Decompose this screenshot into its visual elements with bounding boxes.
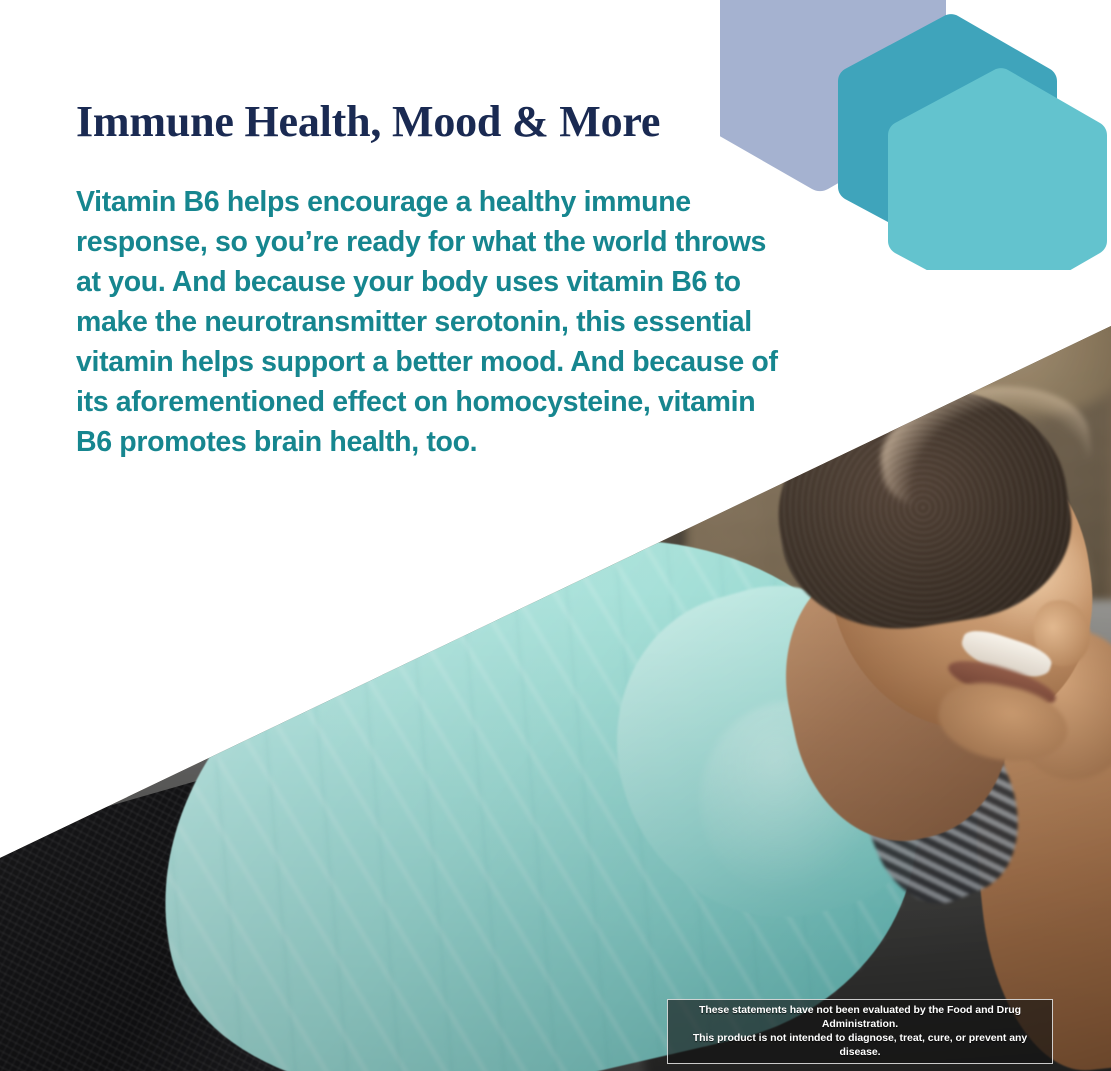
hexagon-teal	[870, 50, 1111, 270]
fda-disclaimer: These statements have not been evaluated…	[667, 999, 1053, 1064]
body-paragraph: Vitamin B6 helps encourage a healthy imm…	[76, 182, 796, 462]
fda-disclaimer-line-1: These statements have not been evaluated…	[674, 1003, 1046, 1031]
background-barbell	[880, 286, 1111, 331]
vitamin-b6-marketing-panel: Immune Health, Mood & More Vitamin B6 he…	[0, 0, 1111, 1071]
fda-disclaimer-line-2: This product is not intended to diagnose…	[674, 1031, 1046, 1059]
hexagon-overlap	[820, 0, 1080, 270]
page-title: Immune Health, Mood & More	[76, 96, 806, 148]
copy-block: Immune Health, Mood & More Vitamin B6 he…	[76, 96, 806, 462]
